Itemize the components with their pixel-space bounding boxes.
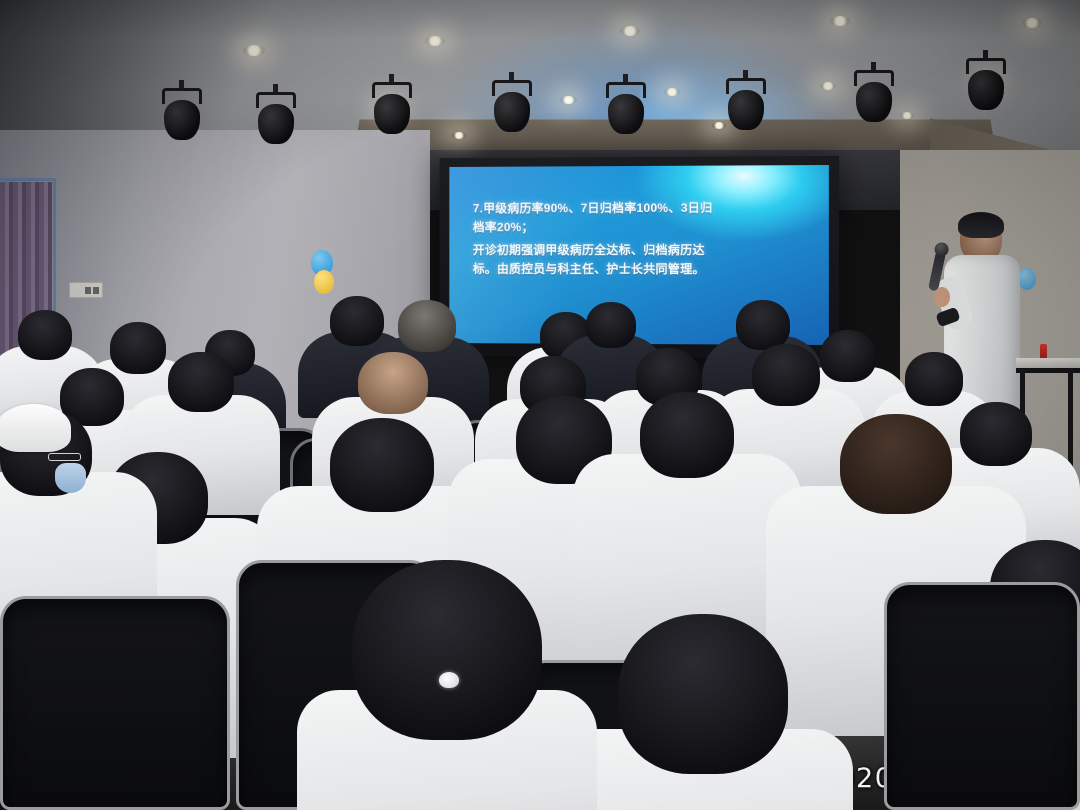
spotlight-can xyxy=(164,100,200,140)
spotlight-can xyxy=(608,94,644,134)
downlight-icon xyxy=(243,45,265,56)
downlight-icon xyxy=(452,132,466,139)
downlight-icon xyxy=(820,82,836,90)
downlight-icon xyxy=(560,96,577,104)
downlight-icon xyxy=(664,88,680,96)
slide-line-3: 开诊初期强调甲级病历全达标、归档病历达 xyxy=(473,241,803,260)
attendee-head xyxy=(330,418,434,512)
spotlight-can xyxy=(374,94,410,134)
attendee-head xyxy=(960,402,1032,466)
downlight-icon xyxy=(620,26,640,36)
downlight-icon xyxy=(900,112,914,119)
attendee-head xyxy=(840,414,952,514)
banquet-chair xyxy=(0,596,230,810)
attendee-head xyxy=(736,300,790,350)
attendee-head xyxy=(820,330,876,382)
stage-spotlight-icon xyxy=(158,88,206,142)
hair-clip-icon xyxy=(439,672,459,688)
attendee-head xyxy=(618,614,788,774)
spotlight-can xyxy=(494,92,530,132)
table-top xyxy=(1016,358,1080,368)
attendee-head xyxy=(586,302,636,348)
microphone-head xyxy=(933,241,950,258)
attendee-head xyxy=(358,352,428,414)
attendee-head xyxy=(110,322,166,374)
spotlight-can xyxy=(968,70,1004,110)
photograph-scene: 7.甲级病历率90%、7日归档率100%、3日归 档率20%； 开诊初期强调甲级… xyxy=(0,0,1080,810)
stage-spotlight-icon xyxy=(252,92,300,146)
slide-line-4: 标。由质控员与科主任、护士长共同管理。 xyxy=(473,260,803,279)
spotlight-can xyxy=(856,82,892,122)
spotlight-can xyxy=(728,90,764,130)
slide-line-2: 档率20%； xyxy=(473,217,803,236)
balloon-yellow-icon xyxy=(314,270,334,294)
spotlight-can xyxy=(258,104,294,144)
slide-line-1: 7.甲级病历率90%、7日归档率100%、3日归 xyxy=(473,198,803,218)
eyeglasses-icon xyxy=(48,453,81,461)
attendee-head xyxy=(640,392,734,478)
face-mask-icon xyxy=(55,463,86,492)
stage-spotlight-icon xyxy=(722,78,770,132)
light-switch-panel[interactable] xyxy=(69,282,103,298)
downlight-icon xyxy=(425,36,445,46)
attendee-head xyxy=(352,560,542,740)
attendee-head xyxy=(330,296,384,346)
attendee-head xyxy=(905,352,963,406)
stage-spotlight-icon xyxy=(602,82,650,136)
stage-spotlight-icon xyxy=(850,70,898,124)
presenter-hair xyxy=(958,212,1004,238)
attendee-head xyxy=(18,310,72,360)
switch-toggle[interactable] xyxy=(85,287,91,294)
stage-spotlight-icon xyxy=(962,58,1010,112)
attendee-head xyxy=(398,300,456,352)
attendee-head xyxy=(168,352,234,412)
attendee-head xyxy=(752,344,820,406)
slide-text-block: 7.甲级病历率90%、7日归档率100%、3日归 档率20%； 开诊初期强调甲级… xyxy=(473,198,803,278)
presenter-hand xyxy=(934,287,950,307)
banquet-chair xyxy=(884,582,1080,810)
table-leg xyxy=(1068,370,1073,468)
stage-spotlight-icon xyxy=(368,82,416,136)
nurse-cap-icon xyxy=(0,404,71,452)
downlight-icon xyxy=(1022,18,1042,28)
stage-spotlight-icon xyxy=(488,80,536,134)
downlight-icon xyxy=(830,16,850,26)
switch-toggle[interactable] xyxy=(93,287,99,294)
